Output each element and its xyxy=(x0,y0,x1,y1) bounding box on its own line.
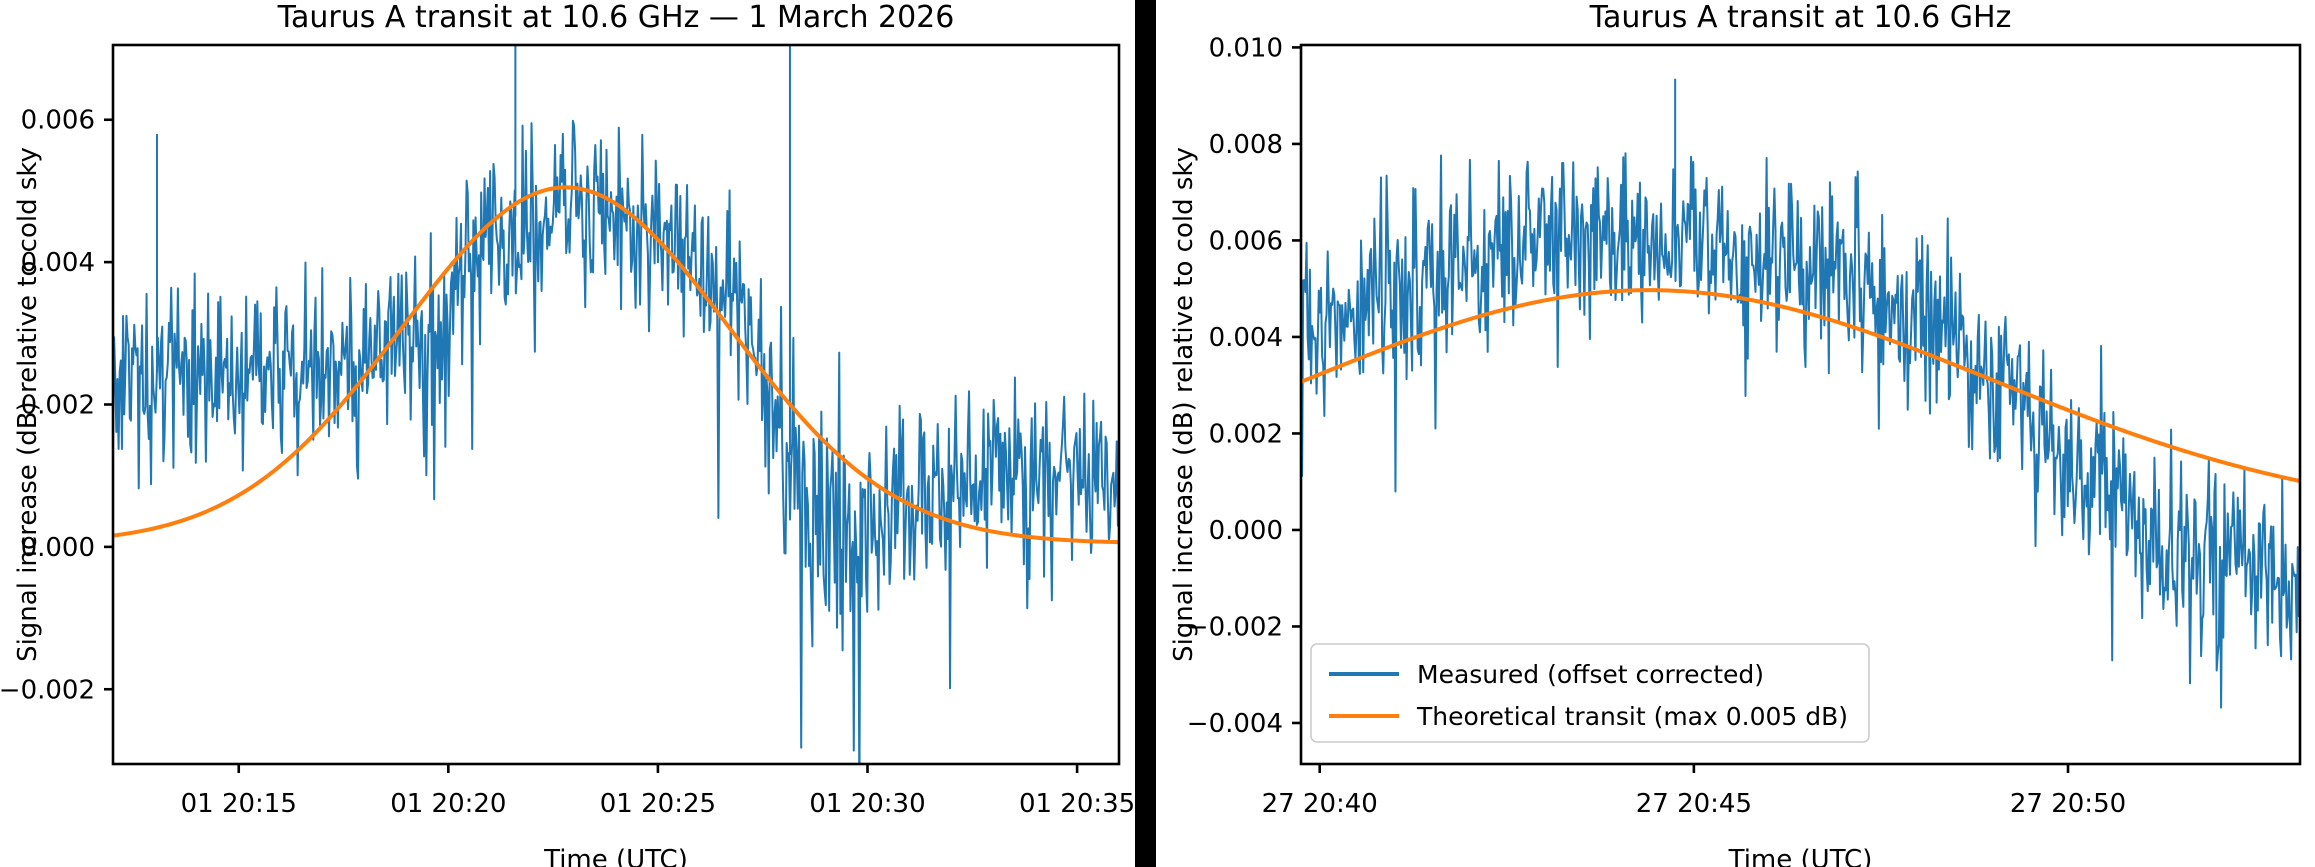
chart-panel-right[interactable]: Taurus A transit at 10.6 GHzSignal incre… xyxy=(1156,0,2315,867)
x-tick-label: 01 20:20 xyxy=(390,789,506,819)
chart-left-svg[interactable]: Taurus A transit at 10.6 GHz — 1 March 2… xyxy=(0,0,1135,867)
series-measured-line xyxy=(1301,153,2300,707)
y-tick-label: 0.002 xyxy=(1209,419,1283,449)
y-tick-label: 0.000 xyxy=(21,533,95,563)
x-tick-label: 27 20:40 xyxy=(1262,789,1378,819)
series-measured-line xyxy=(113,121,1119,804)
chart-right-svg[interactable]: Taurus A transit at 10.6 GHzSignal incre… xyxy=(1156,0,2315,867)
y-tick-label: 0.000 xyxy=(1209,516,1283,546)
x-tick-label: 01 20:30 xyxy=(809,789,925,819)
y-tick-label: −0.002 xyxy=(1187,612,1283,642)
series-theory-line xyxy=(113,187,1119,542)
chart-title: Taurus A transit at 10.6 GHz — 1 March 2… xyxy=(277,0,955,35)
legend-label-2: Theoretical transit (max 0.005 dB) xyxy=(1416,702,1848,731)
y-tick-label: −0.002 xyxy=(0,675,95,705)
y-tick-label: 0.008 xyxy=(1209,130,1283,160)
x-tick-label: 27 20:50 xyxy=(2010,789,2126,819)
x-axis-label: Time (UTC) xyxy=(1728,845,1873,867)
chart-title: Taurus A transit at 10.6 GHz xyxy=(1589,0,2012,35)
panel-divider xyxy=(1135,0,1156,867)
figure-canvas: Taurus A transit at 10.6 GHz — 1 March 2… xyxy=(0,0,2315,867)
y-tick-label: 0.002 xyxy=(21,391,95,421)
x-axis-label: Time (UTC) xyxy=(543,845,688,867)
series-theory-line xyxy=(1301,290,2300,481)
y-tick-label: 0.010 xyxy=(1209,33,1283,63)
x-tick-label: 01 20:15 xyxy=(181,789,297,819)
chart-panel-left[interactable]: Taurus A transit at 10.6 GHz — 1 March 2… xyxy=(0,0,1135,867)
x-tick-label: 01 20:25 xyxy=(600,789,716,819)
y-tick-label: 0.006 xyxy=(21,106,95,136)
legend-label-1: Measured (offset corrected) xyxy=(1417,660,1764,689)
y-tick-label: 0.004 xyxy=(1209,323,1283,353)
y-axis-label: Signal increase (dB) relative to cold sk… xyxy=(1169,147,1199,662)
x-tick-label: 27 20:45 xyxy=(1636,789,1752,819)
x-tick-label: 01 20:35 xyxy=(1019,789,1135,819)
y-tick-label: −0.004 xyxy=(1187,709,1283,739)
chart-legend[interactable]: Measured (offset corrected)Theoretical t… xyxy=(1311,644,1869,742)
y-tick-label: 0.006 xyxy=(1209,226,1283,256)
y-tick-label: 0.004 xyxy=(21,248,95,278)
